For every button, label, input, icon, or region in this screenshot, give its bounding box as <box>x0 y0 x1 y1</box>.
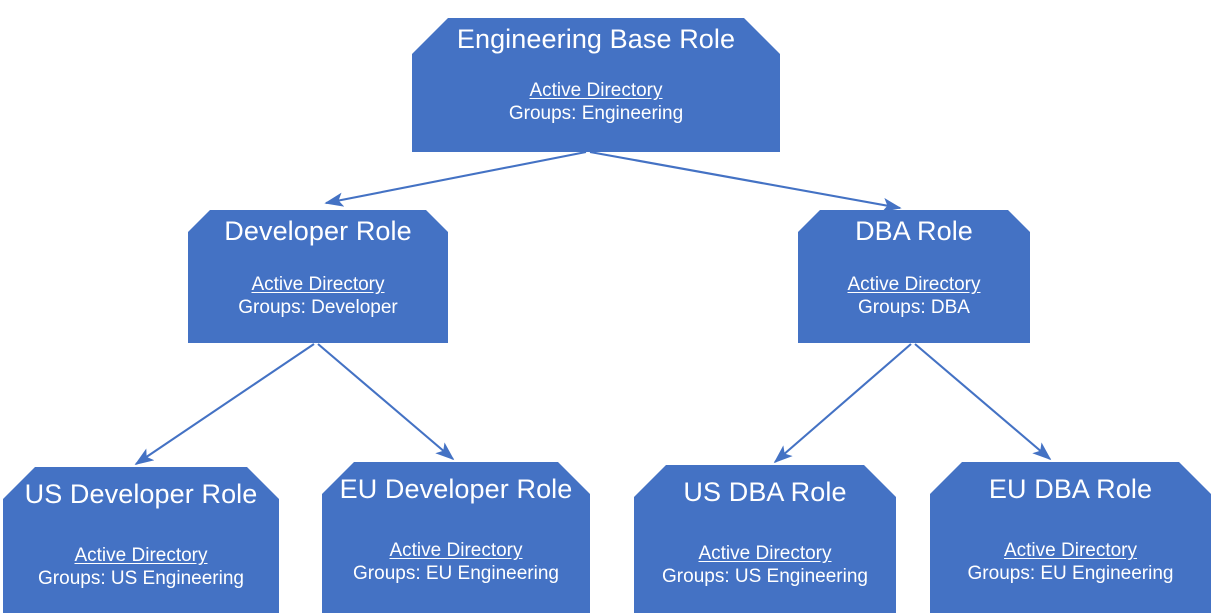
node-title: US DBA Role <box>634 465 896 507</box>
node-body: Active Directory Groups: DBA <box>798 246 1030 319</box>
role-hierarchy-diagram: Engineering Base Role Active Directory G… <box>0 0 1215 613</box>
node-body: Active Directory Groups: EU Engineering <box>322 504 590 585</box>
active-directory-label: Active Directory <box>188 274 448 296</box>
active-directory-label: Active Directory <box>634 543 896 565</box>
node-dba-role[interactable]: DBA Role Active Directory Groups: DBA <box>798 210 1030 343</box>
groups-label: Groups: EU Engineering <box>322 563 590 585</box>
active-directory-label: Active Directory <box>322 540 590 562</box>
groups-label: Groups: US Engineering <box>3 568 279 590</box>
node-body: Active Directory Groups: US Engineering <box>634 507 896 588</box>
node-us-dba-role[interactable]: US DBA Role Active Directory Groups: US … <box>634 465 896 613</box>
edge-dba-to-eu <box>915 344 1050 459</box>
groups-label: Groups: EU Engineering <box>930 563 1211 585</box>
edge-base-to-developer <box>326 152 586 203</box>
active-directory-label: Active Directory <box>3 545 279 567</box>
node-body: Active Directory Groups: Engineering <box>412 54 780 125</box>
node-eu-dba-role[interactable]: EU DBA Role Active Directory Groups: EU … <box>930 462 1211 613</box>
active-directory-label: Active Directory <box>930 540 1211 562</box>
node-body: Active Directory Groups: EU Engineering <box>930 504 1211 585</box>
active-directory-label: Active Directory <box>798 274 1030 296</box>
node-eu-developer-role[interactable]: EU Developer Role Active Directory Group… <box>322 462 590 613</box>
node-us-developer-role[interactable]: US Developer Role Active Directory Group… <box>3 467 279 613</box>
groups-label: Groups: DBA <box>798 297 1030 319</box>
node-title: DBA Role <box>798 210 1030 246</box>
node-title: US Developer Role <box>3 467 279 509</box>
node-developer-role[interactable]: Developer Role Active Directory Groups: … <box>188 210 448 343</box>
node-title: EU Developer Role <box>322 462 590 504</box>
edge-base-to-dba <box>590 152 900 208</box>
node-title: Engineering Base Role <box>412 18 780 54</box>
edge-developer-to-eu <box>318 344 453 459</box>
node-title: EU DBA Role <box>930 462 1211 504</box>
groups-label: Groups: Engineering <box>412 103 780 125</box>
groups-label: Groups: US Engineering <box>634 566 896 588</box>
groups-label: Groups: Developer <box>188 297 448 319</box>
node-body: Active Directory Groups: US Engineering <box>3 509 279 590</box>
node-engineering-base-role[interactable]: Engineering Base Role Active Directory G… <box>412 18 780 152</box>
active-directory-label: Active Directory <box>412 80 780 102</box>
node-title: Developer Role <box>188 210 448 246</box>
node-body: Active Directory Groups: Developer <box>188 246 448 319</box>
edge-dba-to-us <box>775 344 911 462</box>
edge-developer-to-us <box>136 344 314 464</box>
